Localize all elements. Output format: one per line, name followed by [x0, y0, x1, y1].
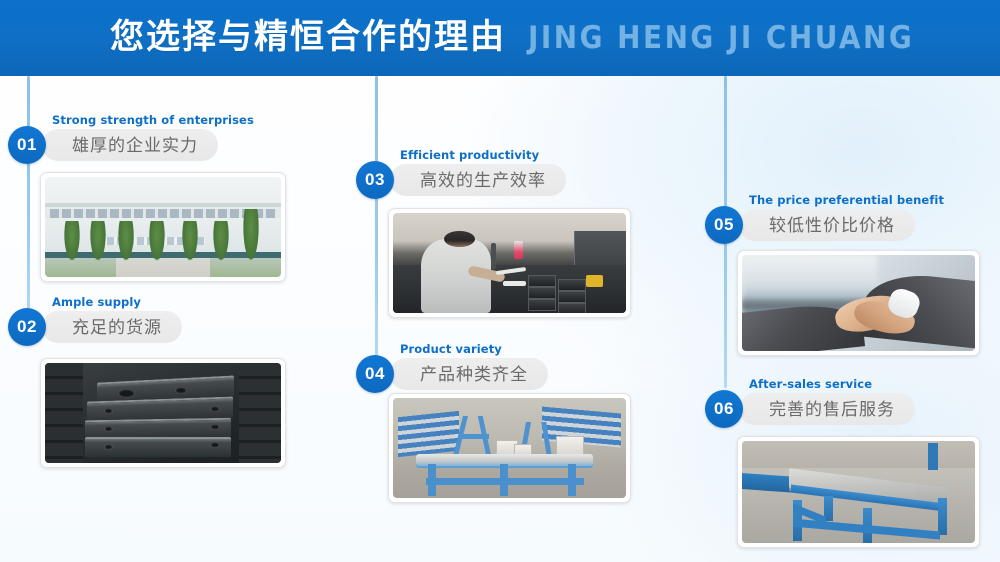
feature-number-badge-02: 02: [8, 308, 46, 346]
promo-page: 您选择与精恒合作的理由 JING HENG JI CHUANG 雄厚的企业实力 …: [0, 0, 1000, 562]
feature-caption-en-04: Product variety: [400, 342, 502, 356]
feature-label-pill-04: 产品种类齐全: [390, 358, 548, 390]
feature-caption-en-01: Strong strength of enterprises: [52, 113, 254, 127]
feature-label-pill-06: 完善的售后服务: [739, 393, 915, 425]
steel-top-work-table-photo: [737, 436, 980, 548]
blue-work-tables-image: [393, 398, 626, 498]
stacked-machine-bases-image: [45, 363, 281, 463]
feature-caption-cn-05: 较低性价比价格: [769, 217, 895, 234]
feature-caption-cn-04: 产品种类齐全: [420, 366, 528, 383]
feature-caption-en-03: Efficient productivity: [400, 148, 539, 162]
connector-line-column-1: [27, 76, 30, 326]
feature-caption-cn-02: 充足的货源: [72, 319, 162, 336]
feature-number-badge-04: 04: [356, 355, 394, 393]
stacked-machine-bases-photo: [40, 358, 286, 468]
feature-label-pill-03: 高效的生产效率: [390, 164, 566, 196]
feature-caption-en-05: The price preferential benefit: [749, 193, 944, 207]
feature-label-pill-01: 雄厚的企业实力: [42, 129, 218, 161]
feature-caption-cn-01: 雄厚的企业实力: [72, 137, 198, 154]
connector-line-column-2: [375, 76, 378, 361]
feature-number-badge-03: 03: [356, 161, 394, 199]
steel-top-work-table-image: [742, 441, 975, 543]
worker-at-workbench-image: [393, 213, 626, 313]
feature-caption-cn-06: 完善的售后服务: [769, 401, 895, 418]
business-handshake-image: [742, 255, 975, 351]
blue-work-tables-photo: [388, 393, 631, 503]
factory-building-image: [45, 177, 281, 277]
feature-caption-en-02: Ample supply: [52, 295, 141, 309]
factory-building-photo: [40, 172, 286, 282]
feature-caption-en-06: After-sales service: [749, 377, 872, 391]
feature-label-pill-02: 充足的货源: [42, 311, 182, 343]
business-handshake-photo: [737, 250, 980, 356]
feature-label-pill-05: 较低性价比价格: [739, 209, 915, 241]
page-title-en: JING HENG JI CHUANG: [528, 20, 914, 56]
worker-at-workbench-photo: [388, 208, 631, 318]
feature-caption-cn-03: 高效的生产效率: [420, 172, 546, 189]
feature-number-badge-05: 05: [705, 206, 743, 244]
feature-number-badge-06: 06: [705, 390, 743, 428]
feature-number-badge-01: 01: [8, 126, 46, 164]
page-title-cn: 您选择与精恒合作的理由: [110, 20, 506, 54]
header-title-group: 您选择与精恒合作的理由 JING HENG JI CHUANG: [0, 20, 914, 56]
page-header: 您选择与精恒合作的理由 JING HENG JI CHUANG: [0, 0, 1000, 76]
